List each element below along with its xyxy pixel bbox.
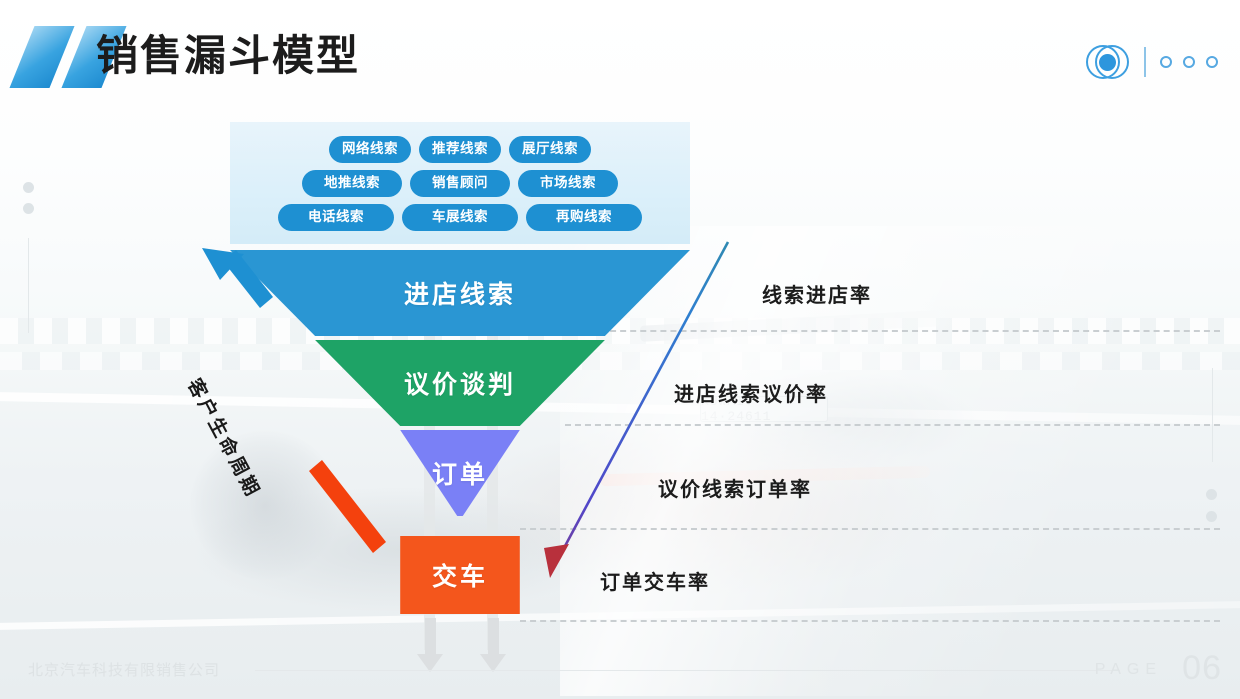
circle-outline-icon-3[interactable]: [1206, 56, 1218, 68]
page-number: 06: [1182, 649, 1222, 688]
funnel-stage-label: 进店线索: [404, 275, 516, 311]
lead-source-tag[interactable]: 推荐线索: [419, 136, 501, 163]
slide-canvas: KUWAIT 14·24611 销售漏斗模型: [0, 0, 1240, 699]
header-divider: [1144, 47, 1146, 77]
funnel-stage-label: 订单: [432, 455, 488, 491]
rate-label-order-to-delivery: 订单交车率: [600, 566, 710, 595]
lead-source-tag[interactable]: 销售顾问: [410, 170, 510, 197]
overlapping-circles-logo-icon[interactable]: [1086, 40, 1130, 84]
slide-footer: 北京汽车科技有限销售公司 PAGE 06: [0, 639, 1240, 699]
slide-header: 销售漏斗模型: [0, 0, 1240, 108]
funnel-stage-label: 交车: [432, 557, 488, 593]
rate-label-negotiation-to-order: 议价线索订单率: [658, 473, 812, 502]
rate-label-lead-to-store: 线索进店率: [762, 279, 872, 308]
lead-source-tag[interactable]: 网络线索: [329, 136, 411, 163]
page-label: PAGE: [1095, 661, 1162, 679]
lead-source-tag[interactable]: 电话线索: [278, 204, 394, 231]
decor-line-left: [28, 238, 29, 333]
decor-dot-right-2: [1206, 511, 1217, 522]
connector-arrow-head: [544, 544, 569, 578]
customer-lifecycle-arrow: 客户生命周期: [200, 248, 400, 568]
lead-source-box: 网络线索 推荐线索 展厅线索 地推线索 销售顾问 市场线索 电话线索 车展线索 …: [230, 122, 690, 244]
decor-line-right: [1212, 368, 1213, 462]
lifecycle-arrow-red-segment: [309, 460, 386, 553]
lead-source-tag[interactable]: 车展线索: [402, 204, 518, 231]
page-title: 销售漏斗模型: [96, 26, 360, 86]
lead-source-tag[interactable]: 市场线索: [518, 170, 618, 197]
lead-source-row-3: 电话线索 车展线索 再购线索: [236, 204, 684, 231]
logo-center-dot: [1099, 54, 1116, 71]
header-dot-icons: [1160, 56, 1218, 68]
lead-source-tag[interactable]: 地推线索: [302, 170, 402, 197]
lifecycle-arrow-svg: [200, 248, 400, 568]
circle-outline-icon-2[interactable]: [1183, 56, 1195, 68]
decor-dot-right-1: [1206, 489, 1217, 500]
lead-source-tag[interactable]: 展厅线索: [509, 136, 591, 163]
decor-dot-left-1: [23, 182, 34, 193]
lead-source-row-2: 地推线索 销售顾问 市场线索: [236, 170, 684, 197]
decor-dot-left-2: [23, 203, 34, 214]
lead-source-row-1: 网络线索 推荐线索 展厅线索: [236, 136, 684, 163]
footer-company-name: 北京汽车科技有限销售公司: [28, 659, 220, 680]
connector-arrow-svg: [520, 238, 800, 598]
funnel-stage-label: 议价谈判: [404, 365, 516, 401]
header-logo-cluster: [1086, 40, 1218, 84]
circle-outline-icon-1[interactable]: [1160, 56, 1172, 68]
lead-source-tag[interactable]: 再购线索: [526, 204, 642, 231]
footer-rule: [255, 670, 1120, 671]
rate-label-store-to-negotiation: 进店线索议价率: [674, 378, 828, 407]
conversion-connector-arrow: [520, 238, 800, 598]
